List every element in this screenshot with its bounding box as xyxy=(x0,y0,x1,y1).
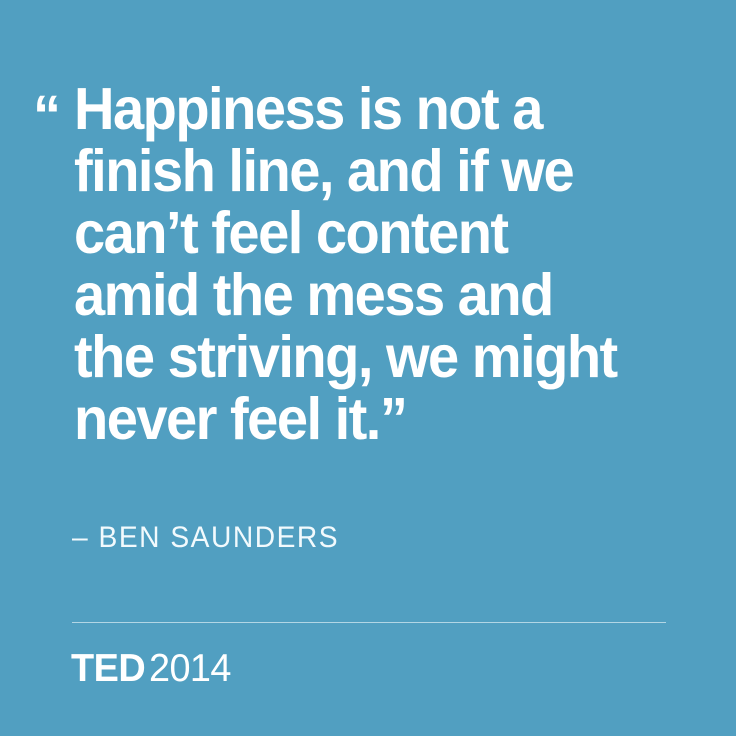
open-quotation-mark: “ xyxy=(33,84,60,146)
quote-card: “ Happiness is not a finish line, and if… xyxy=(0,0,736,736)
quote-line: Happiness is not a xyxy=(74,78,682,140)
quote-line: amid the mess and xyxy=(74,264,682,326)
horizontal-divider xyxy=(72,622,666,623)
quote-line: finish line, and if we xyxy=(74,140,682,202)
quote-line: the striving, we might xyxy=(74,326,682,388)
ted-logo: TED 2014 xyxy=(71,649,233,688)
quote-line: can’t feel content xyxy=(74,202,682,264)
ted-logo-brand: TED xyxy=(71,649,145,688)
ted-logo-year: 2014 xyxy=(149,649,231,688)
quote-attribution: – BEN SAUNDERS xyxy=(72,521,339,555)
quote-line: never feel it.” xyxy=(74,388,682,450)
quote-block: “ Happiness is not a finish line, and if… xyxy=(74,78,714,450)
